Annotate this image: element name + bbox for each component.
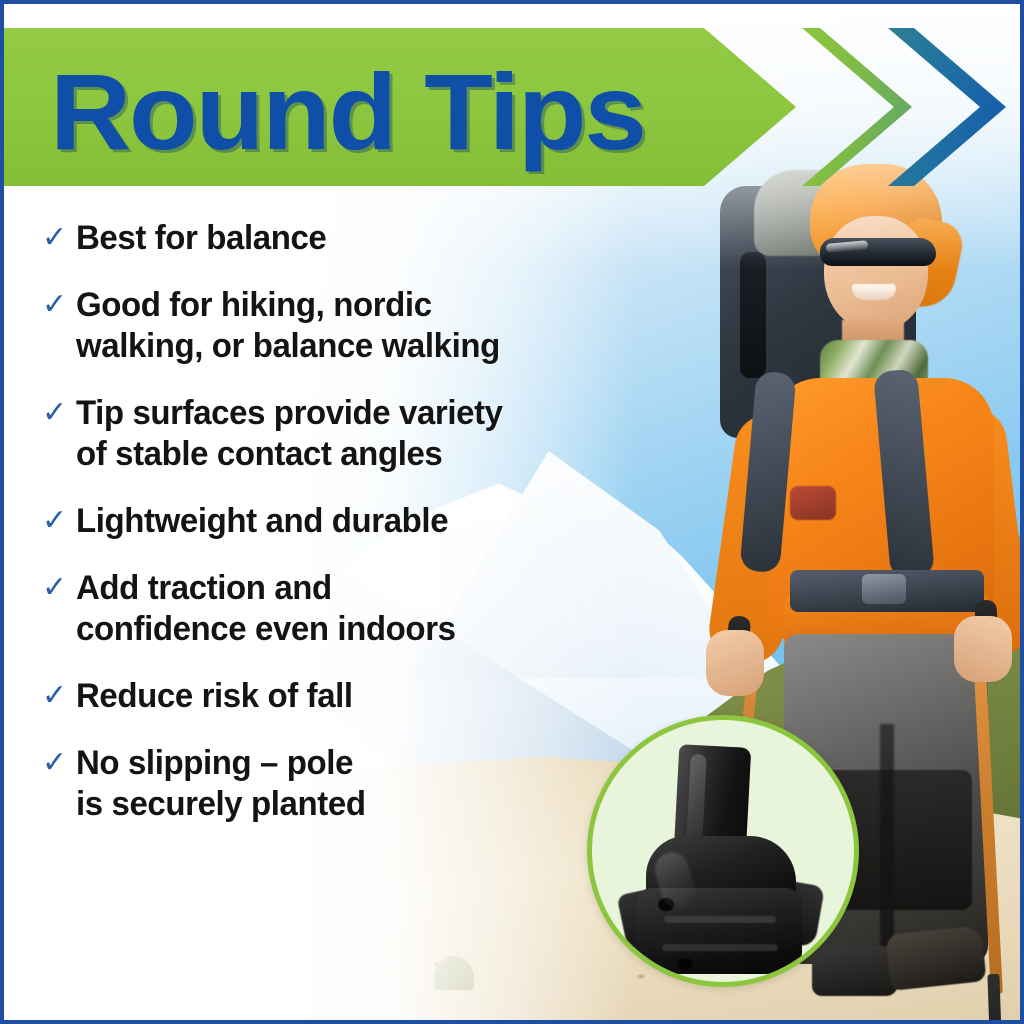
- hiker-right-hand: [954, 616, 1012, 682]
- list-item-label: Best for balance: [76, 218, 326, 259]
- chevron-green-icon: [802, 28, 912, 186]
- check-icon: ✓: [42, 676, 76, 716]
- check-icon: ✓: [42, 501, 76, 541]
- list-item: ✓ Reduce risk of fall: [42, 676, 678, 717]
- hiker-smile: [852, 284, 896, 300]
- list-item-label: No slipping – pole is securely planted: [76, 743, 366, 825]
- backpack-frame-bar: [740, 252, 766, 378]
- hip-belt-buckle: [862, 574, 906, 604]
- hiker-left-hand: [706, 630, 764, 696]
- list-item-label: Lightweight and durable: [76, 501, 448, 542]
- list-item: ✓ Add traction and confidence even indoo…: [42, 568, 678, 650]
- header-banner: Round Tips: [4, 28, 1020, 186]
- list-item-label: Add traction and confidence even indoors: [76, 568, 456, 650]
- check-icon: ✓: [42, 743, 76, 783]
- hiking-boot-right: [885, 925, 986, 991]
- list-item-label: Good for hiking, nordic walking, or bala…: [76, 285, 500, 367]
- page-title: Round Tips: [50, 62, 778, 162]
- check-icon: ✓: [42, 285, 76, 325]
- backpack-chest-clip: [790, 486, 836, 520]
- poster-stage: Round Tips ✓ Best for balance ✓ Good for…: [4, 4, 1020, 1020]
- check-icon: ✓: [42, 568, 76, 608]
- tip-groove-lower: [662, 944, 778, 951]
- list-item-label: Tip surfaces provide variety of stable c…: [76, 393, 503, 475]
- list-item: ✓ Good for hiking, nordic walking, or ba…: [42, 285, 678, 367]
- list-item: ✓ Best for balance: [42, 218, 678, 259]
- list-item-label: Reduce risk of fall: [76, 676, 353, 717]
- product-inset-circle: [587, 715, 859, 987]
- list-item: ✓ No slipping – pole is securely planted: [42, 743, 678, 825]
- tip-groove-upper: [664, 916, 776, 923]
- list-item: ✓ Tip surfaces provide variety of stable…: [42, 393, 678, 475]
- infographic-poster: Round Tips ✓ Best for balance ✓ Good for…: [0, 0, 1024, 1024]
- check-icon: ✓: [42, 393, 76, 433]
- tip-hole-lower: [678, 958, 693, 970]
- list-item: ✓ Lightweight and durable: [42, 501, 678, 542]
- check-icon: ✓: [42, 218, 76, 258]
- rubber-pole-tip-product: [592, 720, 854, 982]
- feature-list: ✓ Best for balance ✓ Good for hiking, no…: [42, 218, 678, 851]
- pants-leg-split: [880, 724, 894, 970]
